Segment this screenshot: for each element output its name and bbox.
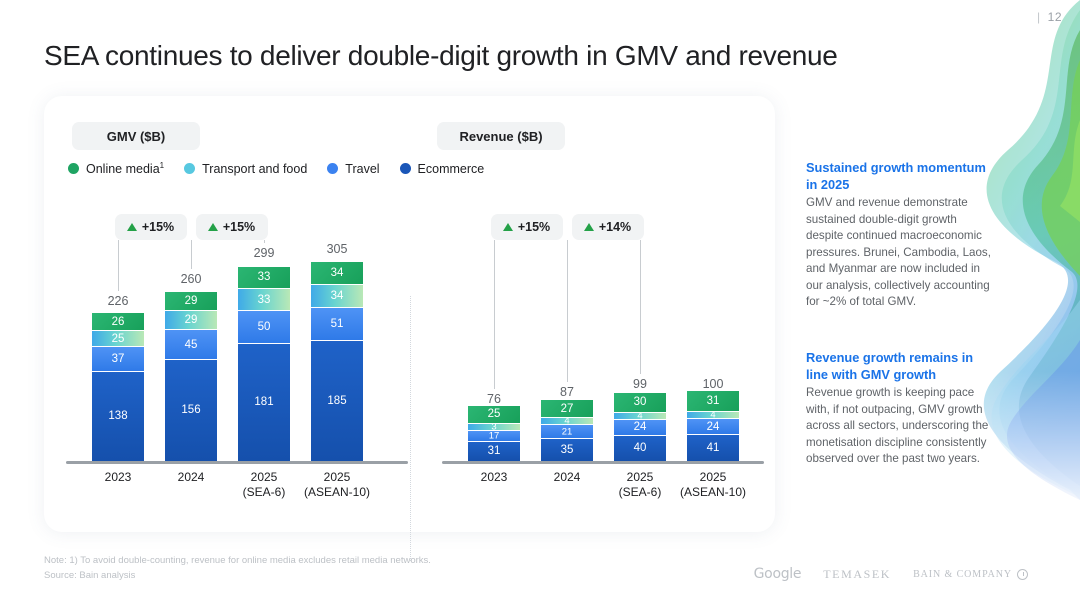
legend-swatch-transport_food	[184, 163, 195, 174]
charts-divider	[410, 296, 411, 561]
growth-badge-label: +15%	[518, 220, 550, 234]
bar-segment[interactable]: 181	[238, 343, 290, 461]
growth-leader-line	[494, 240, 495, 389]
legend-label-travel: Travel	[345, 162, 379, 176]
legend-swatch-online_media	[68, 163, 79, 174]
gmv-section-label: GMV ($B)	[72, 122, 200, 150]
growth-badge: +15%	[491, 214, 563, 240]
bar-total-label: 99	[600, 377, 680, 391]
growth-badge-label: +15%	[142, 220, 174, 234]
bar-group[interactable]: 3434511853052025(ASEAN-10)	[311, 262, 363, 461]
bar-segment[interactable]: 24	[614, 419, 666, 435]
page-number-value: 12	[1048, 10, 1062, 24]
growth-up-triangle-icon	[503, 223, 513, 231]
gmv-chart: 2625371382262023292945156260202433335018…	[58, 206, 408, 506]
growth-badge-label: +15%	[223, 220, 255, 234]
temasek-logo: TEMASEK	[823, 567, 891, 582]
bar-segment-value: 26	[92, 316, 144, 328]
bar-segment-value: 33	[238, 294, 290, 306]
bar-segment-value: 34	[311, 267, 363, 279]
bar-segment-value: 37	[92, 353, 144, 365]
commentary-block-2: Revenue growth remains in line with GMV …	[806, 350, 996, 468]
bar-segment-value: 30	[614, 396, 666, 408]
bar-group[interactable]: 2929451562602024	[165, 292, 217, 461]
bar-segment[interactable]: 35	[541, 438, 593, 461]
bar-segment-value: 41	[687, 442, 739, 454]
bar-segment[interactable]: 4	[687, 411, 739, 418]
growth-badge: +15%	[115, 214, 187, 240]
growth-leader-line	[264, 240, 265, 243]
bar-segment-value: 51	[311, 318, 363, 330]
bar-total-label: 76	[454, 392, 534, 406]
bar-segment-value: 24	[687, 421, 739, 433]
revenue-plot-area: 253173176202327421358720243042440992025(…	[434, 206, 764, 464]
legend-item-online_media: Online media1	[68, 161, 164, 176]
bar-segment-value: 29	[165, 314, 217, 326]
bar-group[interactable]: 2742135872024	[541, 400, 593, 461]
bar-segment[interactable]: 31	[687, 391, 739, 411]
commentary-body-1: GMV and revenue demonstrate sustained do…	[806, 195, 996, 310]
bar-group[interactable]: 31424411002025(ASEAN-10)	[687, 391, 739, 461]
growth-badge: +15%	[196, 214, 268, 240]
bar-segment[interactable]: 138	[92, 371, 144, 461]
bar-segment[interactable]: 40	[614, 435, 666, 461]
bar-segment[interactable]: 17	[468, 430, 520, 441]
bar-segment[interactable]: 33	[238, 288, 290, 310]
bar-segment-value: 40	[614, 442, 666, 454]
growth-up-triangle-icon	[127, 223, 137, 231]
bar-segment[interactable]: 25	[92, 330, 144, 346]
bar-segment[interactable]: 45	[165, 329, 217, 358]
bar-segment[interactable]: 29	[165, 292, 217, 311]
bar-segment-value: 31	[468, 445, 520, 457]
bar-group[interactable]: 3042440992025(SEA-6)	[614, 393, 666, 462]
revenue-chart: 253173176202327421358720243042440992025(…	[434, 206, 764, 506]
legend-label-transport_food: Transport and food	[202, 162, 307, 176]
bar-segment-value: 21	[541, 426, 593, 437]
bar-segment[interactable]: 3	[468, 423, 520, 430]
bain-logo: BAIN & COMPANY	[913, 569, 1028, 580]
bar-segment[interactable]: 51	[311, 307, 363, 340]
bar-segment[interactable]: 4	[614, 412, 666, 419]
bar-total-label: 305	[297, 242, 377, 256]
chart-legend: Online media1Transport and foodTravelEco…	[68, 161, 504, 176]
revenue-section-label: Revenue ($B)	[437, 122, 565, 150]
bar-total-label: 299	[224, 246, 304, 260]
growth-leader-line	[640, 240, 641, 374]
bar-segment-value: 156	[165, 404, 217, 416]
bar-segment-value: 33	[238, 271, 290, 283]
bar-segment[interactable]: 24	[687, 418, 739, 434]
bar-segment[interactable]: 156	[165, 359, 217, 461]
bar-segment-value: 25	[468, 408, 520, 420]
bar-segment-value: 50	[238, 321, 290, 333]
bain-clock-icon	[1017, 569, 1028, 580]
bar-segment-value: 34	[311, 290, 363, 302]
legend-swatch-travel	[327, 163, 338, 174]
bar-group[interactable]: 3333501812992025(SEA-6)	[238, 267, 290, 461]
bar-segment-value: 181	[238, 396, 290, 408]
bar-segment[interactable]: 41	[687, 434, 739, 461]
google-logo: Google	[754, 566, 802, 582]
commentary-block-1: Sustained growth momentum in 2025 GMV an…	[806, 160, 996, 310]
legend-swatch-ecommerce	[400, 163, 411, 174]
page-number-separator: |	[1037, 10, 1041, 24]
bar-segment-value: 185	[311, 395, 363, 407]
commentary-body-2: Revenue growth is keeping pace with, if …	[806, 385, 996, 467]
bar-total-label: 260	[151, 272, 231, 286]
page-number: |12	[1037, 10, 1062, 24]
legend-item-ecommerce: Ecommerce	[400, 162, 485, 176]
legend-item-transport_food: Transport and food	[184, 162, 307, 176]
growth-up-triangle-icon	[208, 223, 218, 231]
bar-segment[interactable]: 31	[468, 441, 520, 461]
bar-segment[interactable]: 27	[541, 400, 593, 418]
partner-logos: Google TEMASEK BAIN & COMPANY	[754, 566, 1028, 582]
commentary-heading-2: Revenue growth remains in line with GMV …	[806, 350, 996, 383]
bar-segment[interactable]: 37	[92, 346, 144, 370]
x-axis-label: 2025(ASEAN-10)	[289, 470, 385, 500]
charts-card: GMV ($B) Revenue ($B) Online media1Trans…	[44, 96, 775, 532]
footnote-source: Source: Bain analysis	[44, 569, 431, 584]
legend-item-travel: Travel	[327, 162, 379, 176]
bar-segment[interactable]: 34	[311, 262, 363, 284]
bar-segment[interactable]: 29	[165, 310, 217, 329]
bar-segment[interactable]: 33	[238, 267, 290, 289]
legend-label-ecommerce: Ecommerce	[418, 162, 485, 176]
bar-segment-value: 35	[541, 444, 593, 456]
bar-total-label: 226	[78, 294, 158, 308]
bar-segment-value: 45	[165, 339, 217, 351]
bar-total-label: 100	[673, 377, 753, 391]
growth-up-triangle-icon	[584, 223, 594, 231]
bar-segment-value: 31	[687, 395, 739, 407]
bar-segment[interactable]: 34	[311, 284, 363, 306]
bar-total-label: 87	[527, 385, 607, 399]
bain-logo-text: BAIN & COMPANY	[913, 569, 1012, 580]
page-title: SEA continues to deliver double-digit gr…	[44, 40, 838, 72]
growth-leader-line	[118, 240, 119, 291]
bar-segment[interactable]: 185	[311, 340, 363, 461]
footnote-note: Note: 1) To avoid double-counting, reven…	[44, 554, 431, 569]
bar-group[interactable]: 2625371382262023	[92, 313, 144, 461]
legend-label-online_media: Online media1	[86, 161, 164, 176]
bar-segment-value: 25	[92, 333, 144, 345]
growth-badge-label: +14%	[599, 220, 631, 234]
bar-segment[interactable]: 50	[238, 310, 290, 343]
bar-group[interactable]: 2531731762023	[468, 406, 520, 461]
bar-segment-value: 17	[468, 430, 520, 441]
commentary-heading-1: Sustained growth momentum in 2025	[806, 160, 996, 193]
gmv-plot-area: 2625371382262023292945156260202433335018…	[58, 206, 408, 464]
bar-segment-value: 138	[92, 410, 144, 422]
bar-segment-value: 27	[541, 403, 593, 415]
growth-leader-line	[191, 240, 192, 269]
bar-segment[interactable]: 26	[92, 313, 144, 330]
growth-badge: +14%	[572, 214, 644, 240]
bar-segment[interactable]: 4	[541, 417, 593, 424]
bar-segment[interactable]: 30	[614, 393, 666, 413]
x-axis-label: 2025(ASEAN-10)	[665, 470, 761, 500]
growth-leader-line	[567, 240, 568, 382]
gmv-axis-baseline	[66, 461, 408, 464]
bar-segment[interactable]: 21	[541, 424, 593, 438]
footnote: Note: 1) To avoid double-counting, reven…	[44, 554, 431, 583]
bar-segment-value: 24	[614, 421, 666, 433]
bar-segment-value: 29	[165, 295, 217, 307]
revenue-axis-baseline	[442, 461, 764, 464]
